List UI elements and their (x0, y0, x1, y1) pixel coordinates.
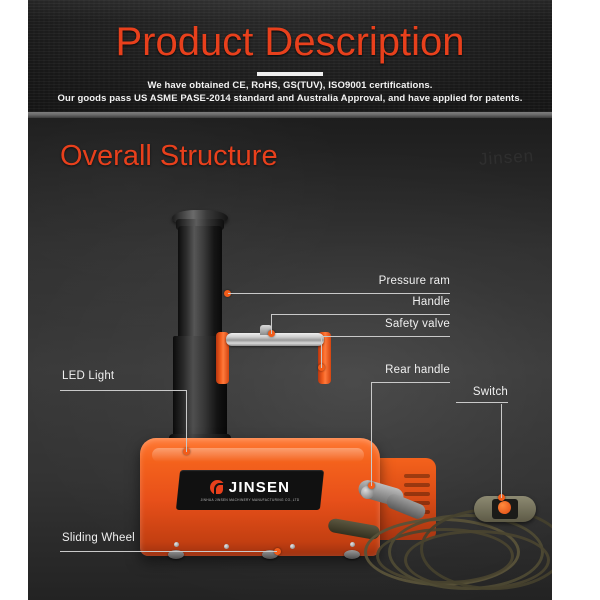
pressure-ram-neck (176, 219, 224, 230)
background-watermark: Jinsen (478, 146, 534, 170)
certification-line-1: We have obtained CE, RoHS, GS(TUV), ISO9… (28, 80, 552, 91)
leader-line-rear-handle-h (371, 382, 450, 383)
body-screw (224, 544, 229, 549)
rear-handle-bracket-2 (385, 492, 428, 521)
remote-switch-face (492, 499, 518, 519)
leader-line-pressure-ram (228, 293, 450, 294)
power-cable-coil (364, 518, 520, 586)
remote-switch-button (498, 501, 511, 514)
power-plug (327, 518, 381, 541)
page-title: Product Description (28, 20, 552, 65)
leader-line-rear-handle-v (371, 382, 372, 486)
brand-subtext: JINHUA JINSEN MACHINERY MANUFACTURING CO… (201, 498, 300, 502)
leader-line-safety-valve-h (321, 336, 450, 337)
callout-underline-switch (456, 402, 508, 403)
body-screw (350, 542, 355, 547)
pressure-ram-base (169, 434, 231, 458)
title-underline-rule (257, 72, 323, 76)
body-screw (174, 542, 179, 547)
leader-line-sliding-wheel (60, 551, 277, 552)
leader-line-led-light-h (60, 390, 187, 391)
power-cable-coil (376, 528, 514, 584)
vent-slot (404, 483, 430, 487)
callout-label-handle: Handle (300, 296, 450, 308)
callout-label-led-light: LED Light (62, 370, 114, 382)
leader-line-switch-v (501, 404, 502, 498)
certification-line-2: Our goods pass US ASME PASE-2014 standar… (28, 93, 552, 104)
product-description-page: Product Description We have obtained CE,… (0, 0, 600, 600)
jack-body-tail (358, 458, 436, 540)
power-cable-coil (404, 530, 550, 590)
remote-switch-body (474, 496, 536, 522)
callout-label-switch: Switch (400, 386, 508, 398)
vent-slot (404, 492, 430, 496)
callout-label-safety-valve: Safety valve (300, 318, 450, 330)
brand-swirl-icon (210, 480, 225, 495)
power-cable-coil (420, 508, 552, 590)
leader-line-handle-v (271, 314, 272, 334)
callout-label-rear-handle: Rear handle (300, 364, 450, 376)
header-band: Product Description We have obtained CE,… (28, 0, 552, 112)
jack-body-main (140, 438, 380, 556)
pressure-ram-cap (172, 210, 228, 226)
leader-line-handle-h (271, 314, 450, 315)
brand-name: JINSEN (229, 479, 290, 496)
callout-label-pressure-ram: Pressure ram (300, 275, 450, 287)
rear-handle-bracket (356, 478, 405, 508)
pressure-ram-upper-stage (178, 226, 222, 338)
body-screw (290, 544, 295, 549)
power-cable-coil (388, 514, 544, 590)
section-title: Overall Structure (60, 140, 278, 173)
vent-slot (404, 510, 430, 514)
handle-post-right (318, 332, 331, 384)
pressure-ram-lower-stage (173, 336, 227, 442)
leader-line-led-light-v (186, 390, 187, 452)
vent-slot (404, 474, 430, 478)
sliding-wheel-rear (344, 550, 360, 559)
vent-slot (404, 501, 430, 505)
callout-label-sliding-wheel: Sliding Wheel (62, 532, 135, 544)
handle-post-left (216, 332, 229, 384)
handle-bar (226, 333, 324, 346)
dark-canvas: Product Description We have obtained CE,… (28, 0, 552, 600)
body-panel: Overall Structure Jinsen (28, 118, 552, 600)
product-illustration: JINSEN JINHUA JINSEN MACHINERY MANUFACTU… (28, 118, 552, 600)
brand-logo-plate: JINSEN JINHUA JINSEN MACHINERY MANUFACTU… (176, 470, 324, 510)
